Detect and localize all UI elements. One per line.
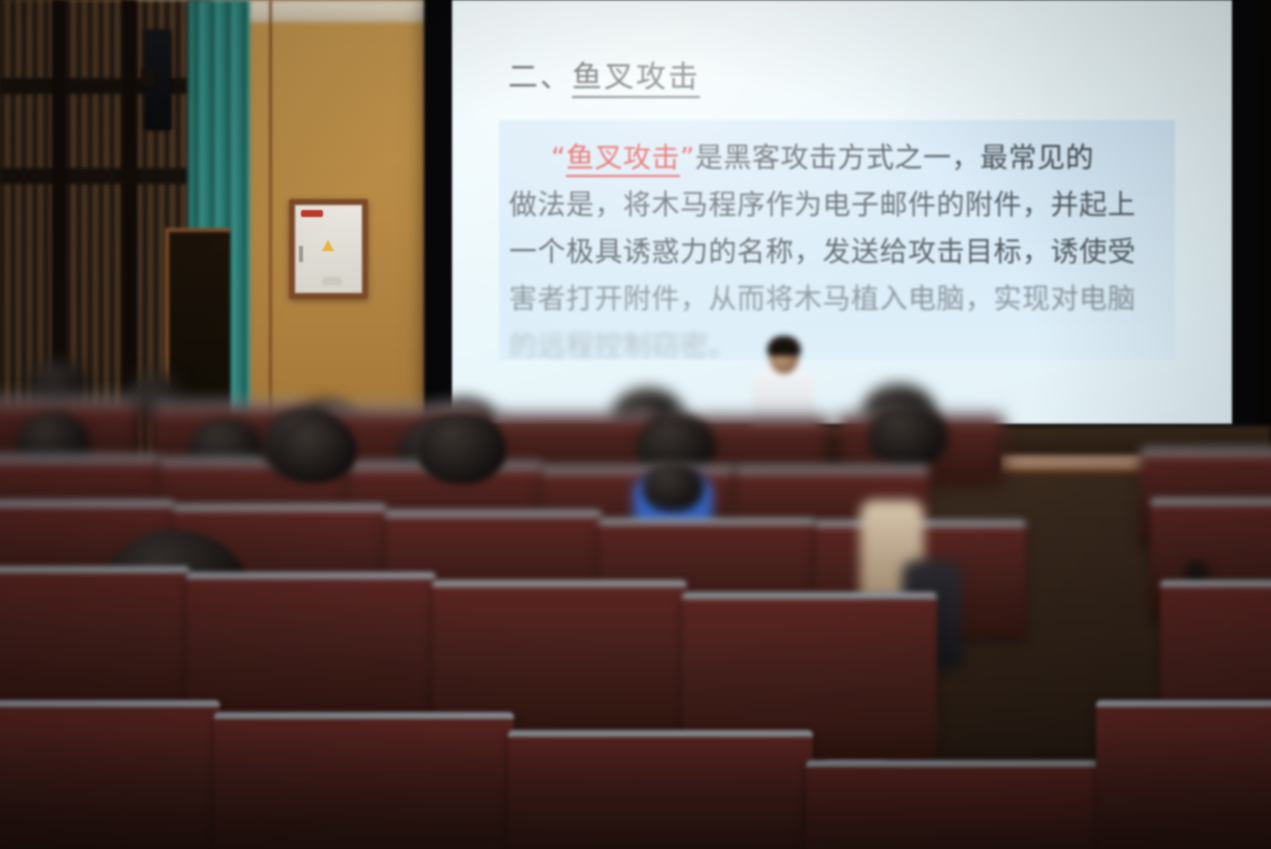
body-keyword: 鱼叉攻击 <box>566 141 680 177</box>
seat <box>0 700 220 849</box>
audience-head <box>642 462 704 512</box>
presenter-hair <box>767 336 801 356</box>
lecture-hall-photo: 二、鱼叉攻击 “鱼叉攻击”是黑客攻击方式之一，最常见的 做法是，将木马程序作为电… <box>0 0 1271 849</box>
slide-body-line-1: “鱼叉攻击”是黑客攻击方式之一，最常见的 <box>509 134 1165 181</box>
audience-head <box>418 414 506 484</box>
slide-body-line-3: 一个极具诱惑力的名称，发送给攻击目标，诱使受 <box>509 228 1165 275</box>
audience-head <box>868 404 948 468</box>
window-mullion <box>0 168 200 184</box>
seat <box>806 760 1106 849</box>
slide-title-prefix: 二、 <box>508 60 572 95</box>
slide-body-line-5: 的远程控制窃密。 <box>509 322 1165 369</box>
warning-triangle-icon <box>322 240 334 251</box>
slide-title-keyword: 鱼叉攻击 <box>572 60 700 98</box>
quote-close: ” <box>680 141 695 174</box>
speaker-mount <box>141 68 155 86</box>
projection-screen: 二、鱼叉攻击 “鱼叉攻击”是黑客攻击方式之一，最常见的 做法是，将木马程序作为电… <box>452 0 1232 424</box>
seat <box>508 730 813 849</box>
slide-textbox: “鱼叉攻击”是黑客攻击方式之一，最常见的 做法是，将木马程序作为电子邮件的附件，… <box>499 120 1175 360</box>
presentation-slide: 二、鱼叉攻击 “鱼叉攻击”是黑客攻击方式之一，最常见的 做法是，将木马程序作为电… <box>452 0 1232 424</box>
seat <box>214 712 514 849</box>
seat <box>0 566 190 716</box>
slide-title: 二、鱼叉攻击 <box>508 52 700 96</box>
seat <box>186 572 436 722</box>
quote-open: “ <box>551 141 566 174</box>
slide-body-line-2: 做法是，将木马程序作为电子邮件的附件，并起上 <box>509 181 1165 228</box>
body-line-1-rest: 是黑客攻击方式之一，最常见的 <box>695 141 1094 174</box>
panel-handle <box>299 246 303 262</box>
slide-body-line-4: 害者打开附件，从而将木马植入电脑，实现对电脑 <box>509 275 1165 322</box>
seat <box>1096 700 1271 849</box>
audience-head <box>276 418 356 482</box>
panel-tag <box>323 277 341 285</box>
warning-label <box>301 210 323 217</box>
